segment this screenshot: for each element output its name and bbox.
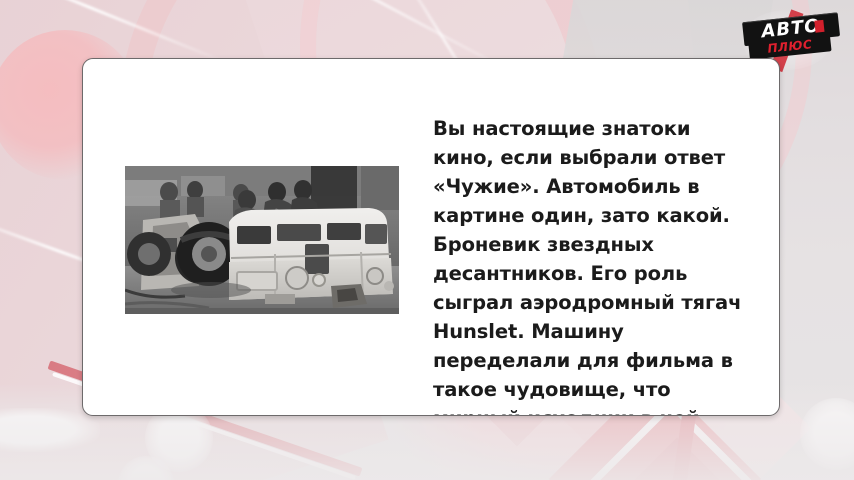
tv-broadcast-frame: АВТО ПЛЮС [0, 0, 854, 480]
logo-o-accent-icon [814, 20, 824, 33]
background-glow-4 [800, 398, 854, 470]
answer-text: Вы настоящие знатоки кино, если выбрали … [433, 114, 757, 416]
background-glow-3 [0, 408, 100, 452]
armored-vehicle-workshop-photo [125, 166, 399, 314]
answer-card: Вы настоящие знатоки кино, если выбрали … [82, 58, 780, 416]
photo-illustration [125, 166, 399, 314]
